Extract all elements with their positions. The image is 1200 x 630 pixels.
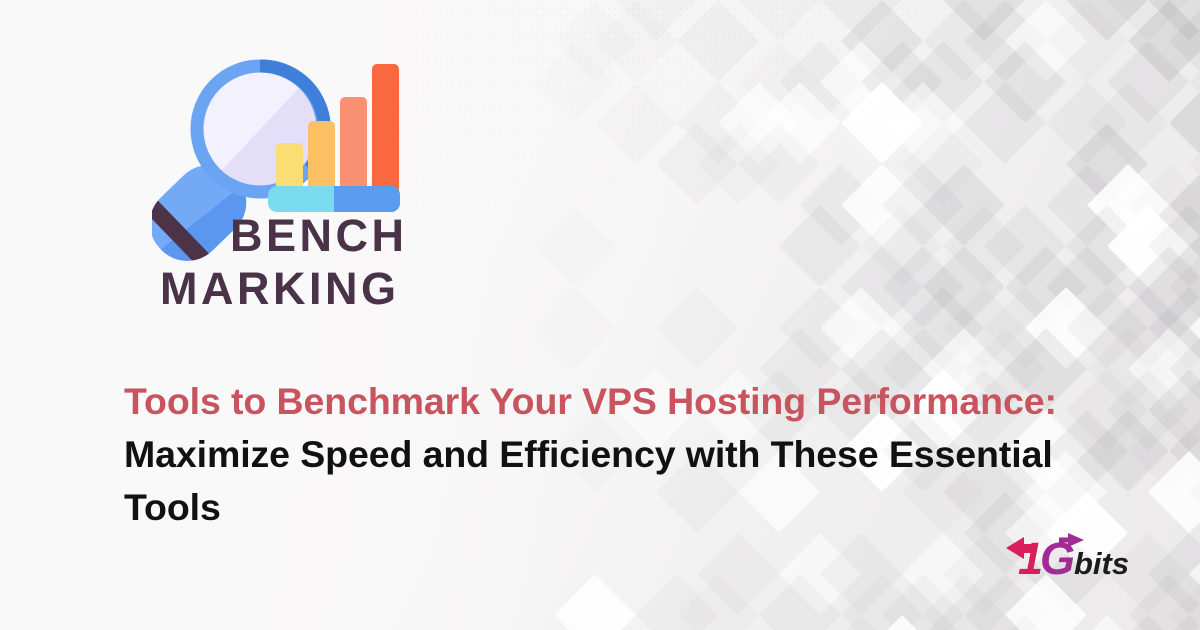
background-diamond <box>677 0 759 82</box>
benchmarking-logo: BENCH MARKING <box>152 52 414 310</box>
brand-logo-1gbits[interactable]: 1 G bits <box>1004 528 1140 582</box>
background-diamond <box>554 574 636 630</box>
logo-word-marking: MARKING <box>160 263 399 310</box>
brand-letter: G <box>1040 533 1075 582</box>
brand-suffix: bits <box>1074 546 1129 581</box>
promo-banner: BENCH MARKING Tools to Benchmark Your VP… <box>0 0 1200 630</box>
bar-chart-base <box>268 186 404 212</box>
background-diamond <box>595 82 677 164</box>
brand-logo-graphic: 1 G bits <box>1004 528 1140 582</box>
logo-word-bench: BENCH <box>230 210 408 261</box>
background-diamond <box>533 205 615 287</box>
page-title-body: Maximize Speed and Efficiency with These… <box>124 433 1053 528</box>
page-title: Tools to Benchmark Your VPS Hosting Perf… <box>124 375 1154 534</box>
benchmarking-logo-graphic: BENCH MARKING <box>152 52 414 310</box>
background-diamond <box>656 287 738 369</box>
page-title-accent: Tools to Benchmark Your VPS Hosting Perf… <box>124 380 1057 422</box>
background-diamond <box>533 287 615 369</box>
